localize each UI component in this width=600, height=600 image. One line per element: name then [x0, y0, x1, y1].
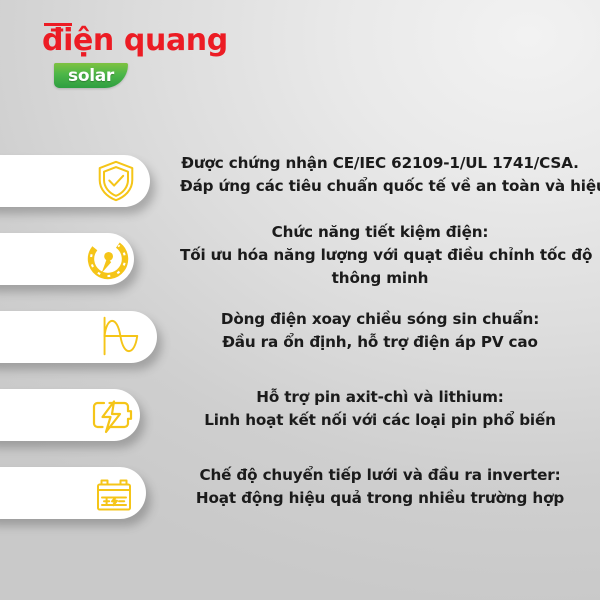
brand-name: điện quang [42, 26, 228, 56]
feature-line: Chức năng tiết kiệm điện: [180, 221, 580, 244]
brand-name-text: điện quang [42, 23, 228, 58]
gauge-speedometer-icon [84, 235, 132, 283]
feature-text-3: Dòng điện xoay chiều sóng sin chuẩn: Đầu… [180, 308, 580, 354]
feature-line: Được chứng nhận CE/IEC 62109-1/UL 1741/C… [180, 152, 580, 175]
feature-line: Đầu ra ổn định, hỗ trợ điện áp PV cao [180, 331, 580, 354]
feature-line: Hỗ trợ pin axit-chì và lithium: [180, 386, 580, 409]
feature-text-1: Được chứng nhận CE/IEC 62109-1/UL 1741/C… [180, 152, 580, 198]
brand-badge-label: solar [68, 66, 114, 86]
feature-line: Hoạt động hiệu quả trong nhiều trường hợ… [180, 487, 580, 510]
feature-line: thông minh [180, 267, 580, 290]
battery-bolt-icon [87, 391, 135, 439]
feature-text-2: Chức năng tiết kiệm điện: Tối ưu hóa năn… [180, 221, 580, 289]
feature-line: Dòng điện xoay chiều sóng sin chuẩn: [180, 308, 580, 331]
feature-line: Linh hoạt kết nối với các loại pin phổ b… [180, 409, 580, 432]
sine-wave-icon [94, 312, 142, 360]
infographic-stage: điện quang solar Được chứng nhận CE/IEC … [0, 0, 600, 600]
brand-logo: điện quang solar [42, 26, 228, 88]
feature-line: Đáp ứng các tiêu chuẩn quốc tế về an toà… [180, 175, 580, 198]
feature-text-5: Chế độ chuyển tiếp lưới và đầu ra invert… [180, 464, 580, 510]
feature-line: Tối ưu hóa năng lượng với quạt điều chỉn… [180, 244, 580, 267]
brand-badge: solar [54, 63, 128, 88]
feature-line: Chế độ chuyển tiếp lưới và đầu ra invert… [180, 464, 580, 487]
shield-check-icon [92, 157, 140, 205]
brand-diacritic-bar [44, 23, 72, 26]
feature-text-4: Hỗ trợ pin axit-chì và lithium: Linh hoạ… [180, 386, 580, 432]
car-battery-icon [90, 469, 138, 517]
